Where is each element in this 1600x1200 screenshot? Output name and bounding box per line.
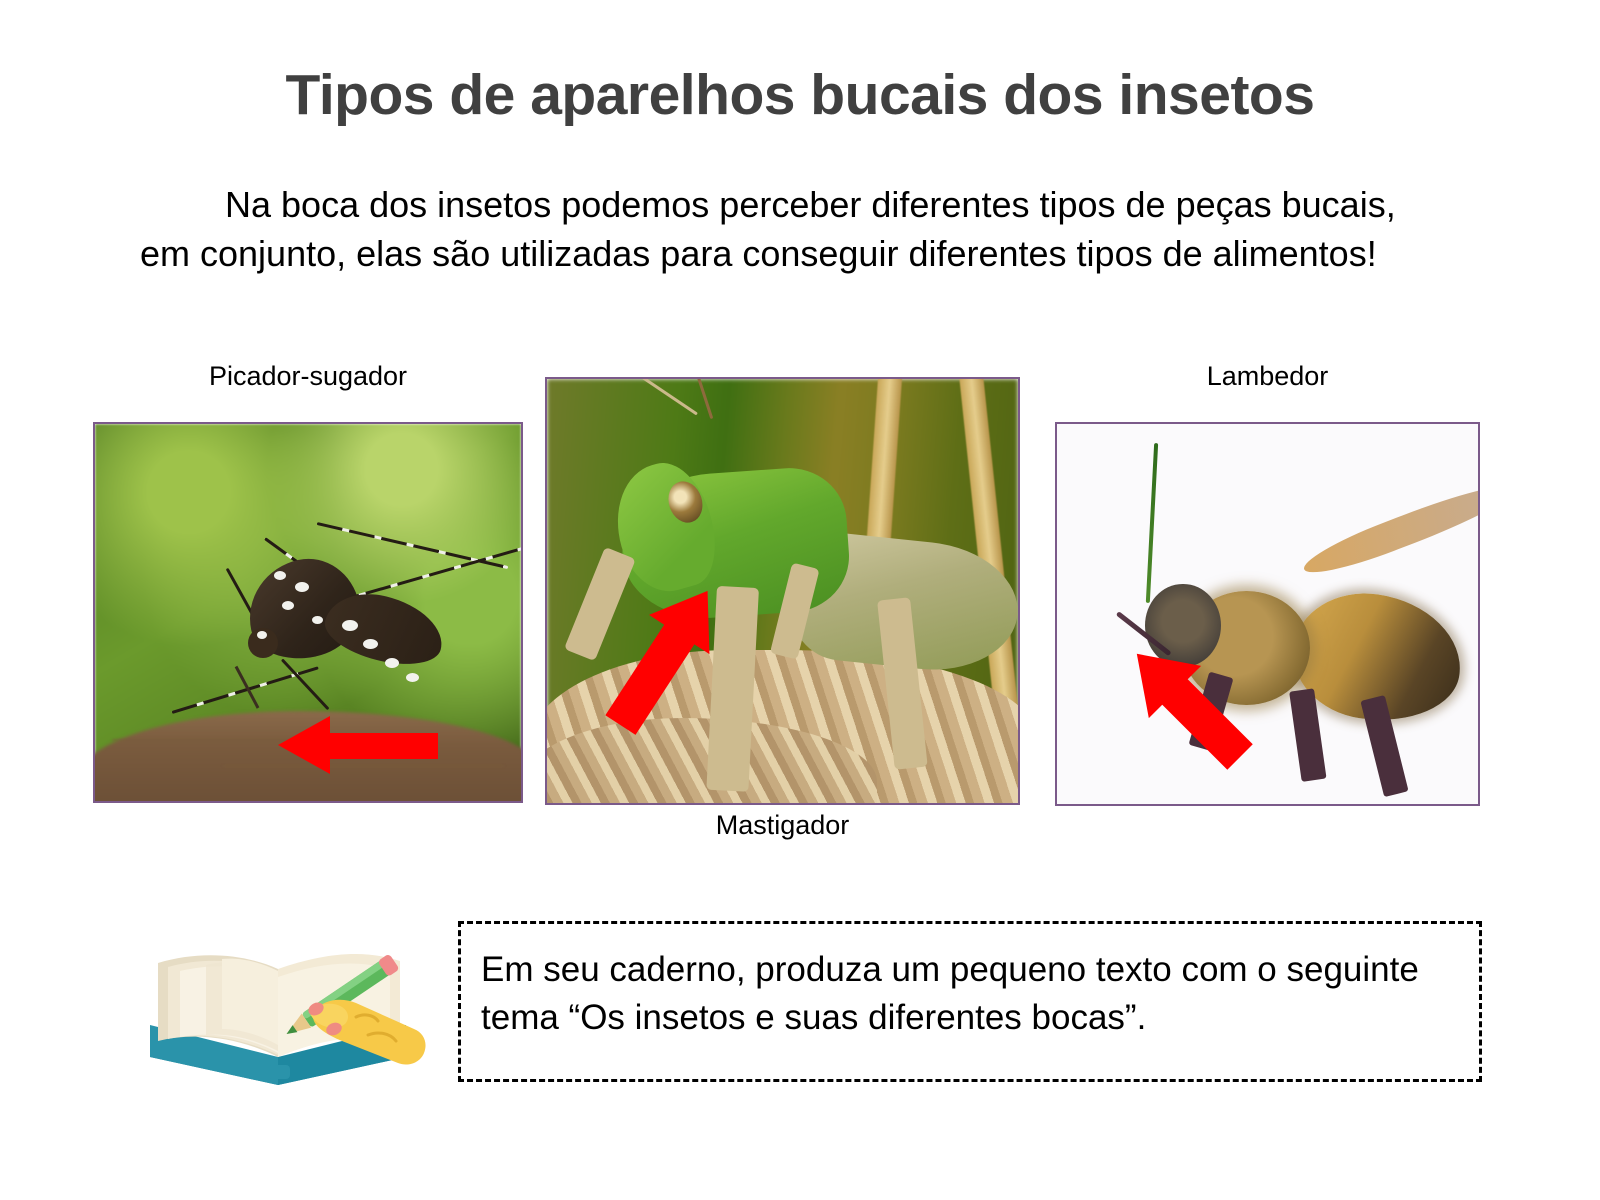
- photo-mosquito-picador-sugador: [93, 422, 523, 803]
- caption-mastigador: Mastigador: [545, 810, 1020, 841]
- grasshopper-scene: [547, 379, 1018, 803]
- photo-bee-lambedor: [1055, 422, 1480, 806]
- open-book-with-pencil-icon: [128, 925, 428, 1085]
- arrow-picador-sugador: [278, 714, 438, 776]
- arrow-lambedor: [1112, 629, 1262, 779]
- caption-lambedor: Lambedor: [1055, 361, 1480, 392]
- mosquito-scene: [95, 424, 521, 801]
- scale-spot: [406, 673, 419, 682]
- photo-grasshopper-mastigador: [545, 377, 1020, 805]
- bee-scene: [1057, 424, 1478, 804]
- scale-spot: [385, 658, 399, 668]
- scale-spot: [274, 571, 286, 580]
- arrow-mastigador: [604, 578, 724, 738]
- task-instruction-text: Em seu caderno, produza um pequeno texto…: [481, 946, 1461, 1042]
- page-title: Tipos de aparelhos bucais dos insetos: [0, 62, 1600, 128]
- scale-spot: [342, 620, 358, 631]
- task-instruction-box: Em seu caderno, produza um pequeno texto…: [458, 921, 1482, 1082]
- caption-picador-sugador: Picador-sugador: [93, 361, 523, 392]
- intro-paragraph: Na boca dos insetos podemos perceber dif…: [140, 180, 1455, 278]
